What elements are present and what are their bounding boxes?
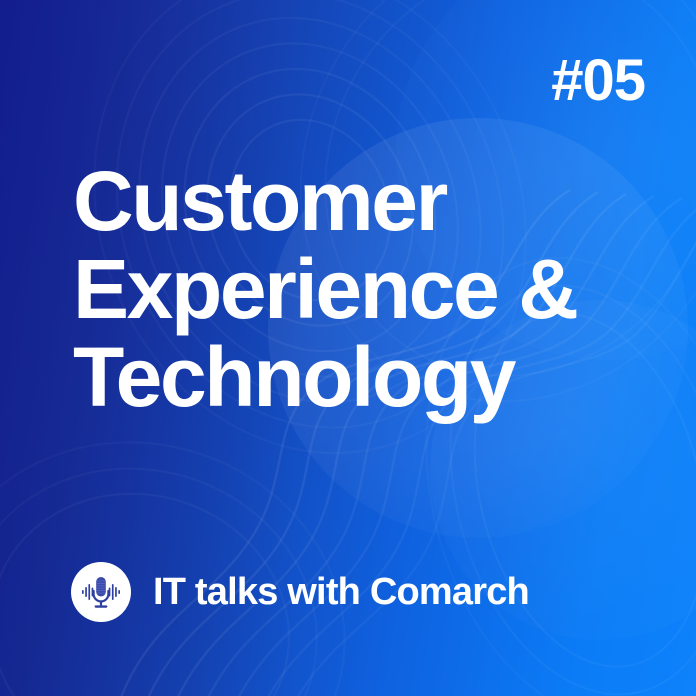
- page-title: Customer Experience & Technology: [73, 157, 673, 422]
- podcast-cover: #05 Customer Experience & Technology: [0, 0, 696, 696]
- episode-number: #05: [551, 52, 645, 110]
- microphone-icon: [79, 570, 123, 614]
- title-line-2: Experience &: [73, 245, 673, 333]
- brand-name: IT talks with Comarch: [153, 573, 529, 611]
- title-line-1: Customer: [73, 157, 673, 245]
- title-line-3: Technology: [73, 333, 673, 421]
- podcast-brand: IT talks with Comarch: [71, 562, 529, 622]
- microphone-badge: [71, 562, 131, 622]
